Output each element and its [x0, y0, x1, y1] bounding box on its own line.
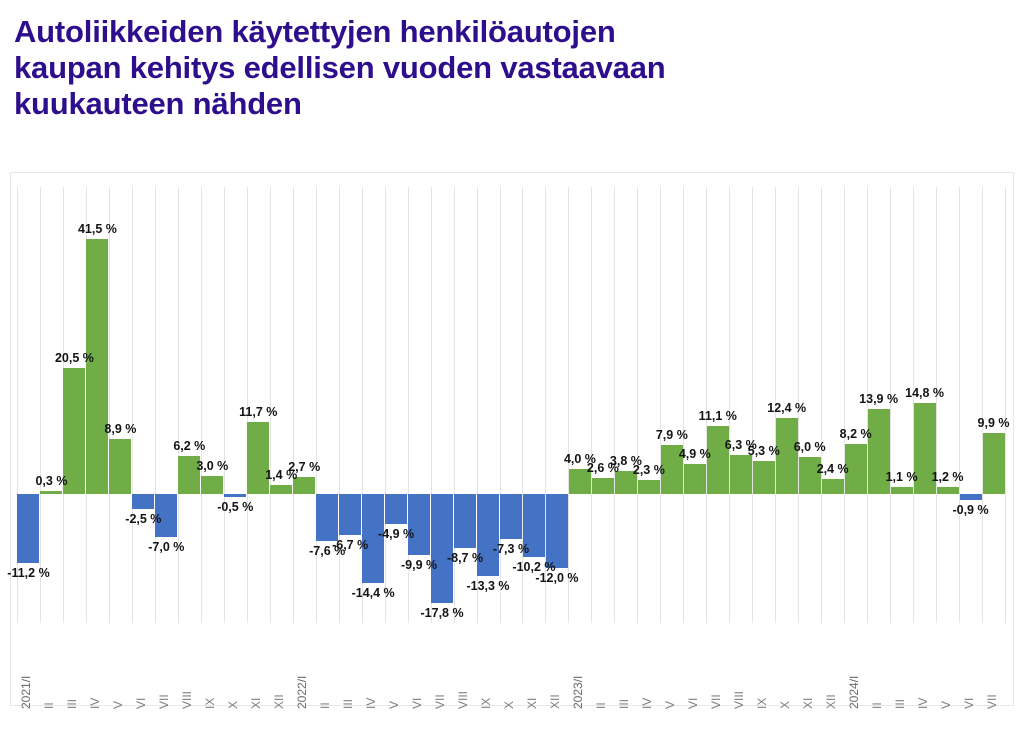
- bar-value-label: 11,1 %: [699, 409, 737, 423]
- bar[interactable]: [431, 494, 453, 603]
- x-tick-2021-I: 2021/I: [19, 676, 33, 709]
- page-title: Autoliikkeiden käytettyjen henkilöautoje…: [14, 14, 954, 122]
- bar[interactable]: [316, 494, 338, 541]
- x-tick-X: X: [502, 701, 516, 709]
- bar-value-label: 0,3 %: [35, 474, 67, 488]
- x-tick-IV: IV: [88, 698, 102, 709]
- bar[interactable]: [592, 478, 614, 494]
- x-tick-II: II: [594, 702, 608, 709]
- x-tick-II: II: [870, 702, 884, 709]
- bar-value-label: 1,1 %: [886, 470, 918, 484]
- x-tick-III: III: [65, 699, 79, 709]
- x-tick-XI: XI: [525, 698, 539, 709]
- bar-value-label: 3,0 %: [196, 459, 228, 473]
- bar-value-label: 2,3 %: [633, 463, 665, 477]
- x-tick-XII: XII: [272, 694, 286, 709]
- bar-value-label: -8,7 %: [447, 551, 483, 565]
- x-tick-IV: IV: [364, 698, 378, 709]
- x-tick-IV: IV: [640, 698, 654, 709]
- bar-value-label: -11,2 %: [7, 566, 49, 580]
- bar-value-label: -2,5 %: [125, 512, 161, 526]
- bar-value-label: -6,7 %: [332, 538, 368, 552]
- bar-value-label: -9,9 %: [401, 558, 437, 572]
- bar-value-label: 20,5 %: [55, 351, 94, 365]
- bar-value-label: -7,0 %: [148, 540, 184, 554]
- bar[interactable]: [891, 487, 913, 494]
- bar-value-label: -0,9 %: [952, 503, 988, 517]
- bar[interactable]: [983, 433, 1005, 494]
- bar-value-label: 11,7 %: [239, 405, 277, 419]
- bar[interactable]: [40, 491, 62, 494]
- bar-value-label: -4,9 %: [378, 527, 414, 541]
- x-tick-X: X: [226, 701, 240, 709]
- bar[interactable]: [17, 494, 39, 563]
- x-tick-II: II: [318, 702, 332, 709]
- x-tick-2022-I: 2022/I: [295, 676, 309, 709]
- x-tick-V: V: [387, 701, 401, 709]
- bar-value-label: -12,0 %: [535, 571, 578, 585]
- bar[interactable]: [224, 494, 246, 497]
- x-tick-XII: XII: [548, 694, 562, 709]
- x-tick-VII: VII: [985, 694, 999, 709]
- bar[interactable]: [937, 487, 959, 494]
- x-tick-VII: VII: [433, 694, 447, 709]
- x-tick-VII: VII: [709, 694, 723, 709]
- bar[interactable]: [408, 494, 430, 555]
- bar-value-label: 1,2 %: [932, 470, 964, 484]
- x-tick-VI: VI: [410, 698, 424, 709]
- bar[interactable]: [500, 494, 522, 539]
- bar[interactable]: [454, 494, 476, 548]
- x-tick-X: X: [778, 701, 792, 709]
- bar-value-label: 5,3 %: [748, 444, 780, 458]
- x-tick-VII: VII: [157, 694, 171, 709]
- bar[interactable]: [109, 439, 131, 494]
- bar-value-label: 6,2 %: [173, 439, 205, 453]
- x-tick-V: V: [111, 701, 125, 709]
- bar-value-label: 4,9 %: [679, 447, 711, 461]
- bar[interactable]: [960, 494, 982, 500]
- bar[interactable]: [546, 494, 568, 568]
- bar[interactable]: [822, 479, 844, 494]
- bar[interactable]: [201, 476, 223, 494]
- bar[interactable]: [638, 480, 660, 494]
- x-tick-XII: XII: [824, 694, 838, 709]
- bar-value-label: -13,3 %: [466, 579, 509, 593]
- bar[interactable]: [339, 494, 361, 535]
- x-tick-IX: IX: [755, 698, 769, 709]
- bar-value-label: 6,0 %: [794, 440, 826, 454]
- x-tick-VIII: VIII: [732, 691, 746, 709]
- x-tick-2023-I: 2023/I: [571, 676, 585, 709]
- x-tick-II: II: [42, 702, 56, 709]
- x-tick-V: V: [939, 701, 953, 709]
- bar-value-label: -17,8 %: [421, 606, 464, 620]
- x-tick-VI: VI: [134, 698, 148, 709]
- bar[interactable]: [247, 422, 269, 494]
- x-tick-IX: IX: [479, 698, 493, 709]
- bar-value-label: 9,9 %: [978, 416, 1010, 430]
- bar-value-label: 12,4 %: [767, 401, 806, 415]
- bar[interactable]: [730, 455, 752, 494]
- bar[interactable]: [270, 485, 292, 494]
- bar-value-label: 2,7 %: [288, 460, 320, 474]
- bar[interactable]: [385, 494, 407, 524]
- bar-value-label: -14,4 %: [352, 586, 395, 600]
- bar-value-label: 2,4 %: [817, 462, 849, 476]
- bar[interactable]: [753, 461, 775, 494]
- x-tick-VI: VI: [686, 698, 700, 709]
- bar-value-label: 7,9 %: [656, 428, 688, 442]
- x-tick-III: III: [893, 699, 907, 709]
- bar[interactable]: [132, 494, 154, 509]
- x-tick-2024-I: 2024/I: [847, 676, 861, 709]
- bar-value-label: 8,2 %: [840, 427, 872, 441]
- bar-value-label: 13,9 %: [859, 392, 898, 406]
- x-tick-IX: IX: [203, 698, 217, 709]
- bar-value-label: 14,8 %: [905, 386, 944, 400]
- bar[interactable]: [86, 239, 108, 494]
- x-tick-VI: VI: [962, 698, 976, 709]
- bar-value-label: 8,9 %: [104, 422, 136, 436]
- x-tick-III: III: [341, 699, 355, 709]
- bar[interactable]: [684, 464, 706, 494]
- x-tick-V: V: [663, 701, 677, 709]
- bar-value-label: -7,3 %: [493, 542, 529, 556]
- x-tick-VIII: VIII: [180, 691, 194, 709]
- bar-value-label: -0,5 %: [217, 500, 253, 514]
- x-tick-IV: IV: [916, 698, 930, 709]
- chart-container: -11,2 %0,3 %20,5 %41,5 %8,9 %-2,5 %-7,0 …: [10, 172, 1014, 706]
- x-tick-III: III: [617, 699, 631, 709]
- chart-plot-area: -11,2 %0,3 %20,5 %41,5 %8,9 %-2,5 %-7,0 …: [11, 173, 1013, 705]
- x-tick-XI: XI: [249, 698, 263, 709]
- bar-value-label: 41,5 %: [78, 222, 117, 236]
- x-tick-XI: XI: [801, 698, 815, 709]
- x-tick-VIII: VIII: [456, 691, 470, 709]
